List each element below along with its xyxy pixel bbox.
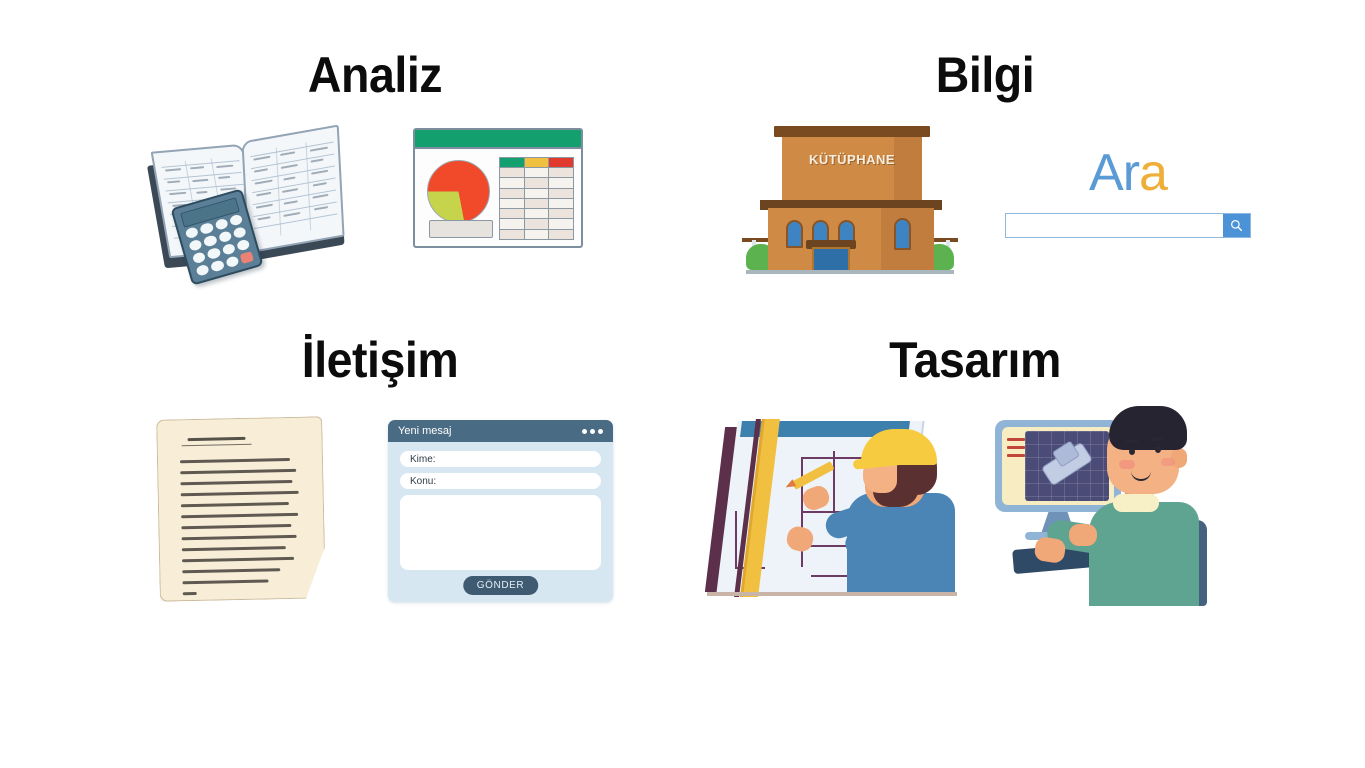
- email-compose-window: Yeni mesaj Kime: Konu: GÖNDER: [388, 420, 613, 602]
- email-to-field[interactable]: Kime:: [400, 451, 601, 467]
- email-subject-label: Konu:: [410, 476, 436, 487]
- building-cornice: [774, 126, 930, 137]
- section-title-iletisim: İletişim: [217, 331, 543, 389]
- search-wordmark-part-1: Ar: [1089, 144, 1139, 202]
- search-icon: [1230, 219, 1243, 232]
- letter-paper: [156, 416, 326, 601]
- book-page-right: [241, 125, 344, 254]
- search-bar[interactable]: [1005, 213, 1251, 238]
- spreadsheet-table: [499, 157, 573, 240]
- designer-eyebrow: [1151, 438, 1163, 441]
- email-window-titlebar: Yeni mesaj: [388, 420, 613, 442]
- letter-heading-scribble: [188, 437, 246, 441]
- spreadsheet-title-bar: [415, 130, 581, 149]
- section-title-tasarim: Tasarım: [831, 331, 1119, 389]
- ground-line: [746, 270, 954, 274]
- designer-hand: [1033, 536, 1066, 564]
- designer-at-computer-illustration: [985, 398, 1215, 606]
- ledger-and-calculator-illustration: [152, 125, 347, 280]
- cad-menu-line: [1007, 438, 1025, 441]
- email-subject-field[interactable]: Konu:: [400, 473, 601, 489]
- library-building-illustration: KÜTÜPHANE: [742, 122, 957, 274]
- library-entrance-door: [812, 247, 850, 272]
- arched-window: [894, 218, 911, 250]
- section-title-bilgi: Bilgi: [846, 46, 1125, 104]
- cad-menu-line: [1007, 446, 1025, 449]
- library-sign-text: KÜTÜPHANE: [782, 152, 922, 167]
- architect-drafting-illustration: [705, 415, 960, 605]
- arched-window: [786, 220, 803, 248]
- slide-canvas: Analiz Bilgi İletişim Tasarım: [0, 0, 1365, 768]
- designer-hand-secondary: [1069, 524, 1097, 546]
- more-options-icon[interactable]: [582, 429, 603, 434]
- search-illustration: Ara: [1003, 145, 1253, 245]
- search-wordmark-part-2: a: [1139, 144, 1167, 202]
- spreadsheet-illustration: [413, 128, 583, 248]
- designer-cheek: [1119, 460, 1135, 469]
- handwritten-letter-illustration: [158, 418, 324, 600]
- designer-cheek: [1161, 458, 1175, 466]
- cad-menu-line: [1007, 454, 1025, 457]
- email-body-textarea[interactable]: [400, 495, 601, 570]
- send-button[interactable]: GÖNDER: [463, 576, 539, 595]
- email-to-label: Kime:: [410, 454, 436, 465]
- ground-line: [707, 592, 957, 596]
- pie-chart: [427, 160, 490, 223]
- table-row: [499, 230, 573, 240]
- cad-screen: [1025, 431, 1109, 501]
- search-input[interactable]: [1006, 214, 1223, 237]
- letter-heading-underline: [182, 444, 252, 446]
- building-upper-floor: [782, 134, 894, 204]
- designer-eye: [1155, 446, 1161, 453]
- email-window-title: Yeni mesaj: [398, 425, 451, 437]
- designer-collar: [1113, 494, 1159, 512]
- search-wordmark: Ara: [1003, 145, 1253, 201]
- search-button[interactable]: [1223, 214, 1250, 237]
- architect-torso: [847, 493, 955, 593]
- spreadsheet-footer-box: [429, 220, 493, 238]
- designer-hair: [1109, 406, 1187, 450]
- section-title-analiz: Analiz: [212, 46, 538, 104]
- designer-eye: [1129, 448, 1135, 455]
- designer-eyebrow: [1126, 440, 1138, 443]
